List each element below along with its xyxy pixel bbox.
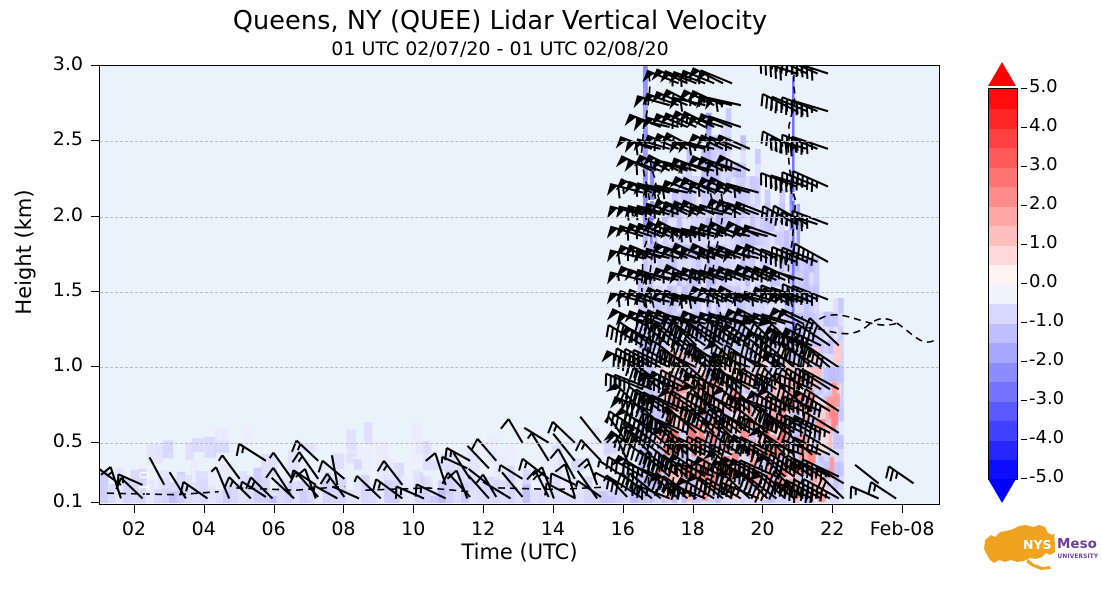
wind-barb xyxy=(289,440,319,469)
wind-barbs-layer xyxy=(100,66,938,503)
logo-mesonet-text: Mesonet xyxy=(1057,536,1098,552)
y-axis-tick xyxy=(91,216,99,217)
colorbar-tick xyxy=(1021,127,1027,128)
colorbar-segment xyxy=(989,323,1017,343)
wind-barb xyxy=(788,100,828,122)
y-axis-tick xyxy=(91,140,99,141)
wind-barb xyxy=(580,417,601,443)
y-axis-tick-label: 0.5 xyxy=(21,430,83,452)
colorbar-tick-label: 3.0 xyxy=(1029,154,1058,175)
x-axis-label: Time (UTC) xyxy=(99,540,940,564)
colorbar-segment xyxy=(989,167,1017,187)
x-axis-tick-label: 16 xyxy=(593,518,653,540)
colorbar-segment xyxy=(989,206,1017,226)
colorbar-tick xyxy=(1021,439,1027,440)
wind-barb xyxy=(553,434,575,461)
x-axis-tick-label: 12 xyxy=(453,518,513,540)
y-axis-tick-label: 1.5 xyxy=(21,279,83,301)
colorbar-tick-label: 2.0 xyxy=(1029,193,1058,214)
x-axis-tick xyxy=(553,505,554,513)
hudson-tail xyxy=(1026,559,1051,570)
colorbar-gradient xyxy=(988,88,1018,480)
x-axis-tick-label: 20 xyxy=(732,518,792,540)
colorbar-segment xyxy=(989,460,1017,480)
wind-barb xyxy=(798,479,839,503)
colorbar-tick xyxy=(1021,283,1027,284)
x-axis-tick-label: 08 xyxy=(313,518,373,540)
colorbar-tick xyxy=(1021,361,1027,362)
x-axis-tick xyxy=(902,505,903,513)
colorbar-segment xyxy=(989,226,1017,246)
x-axis-tick xyxy=(413,505,414,513)
colorbar-tick-label: 0.0 xyxy=(1029,271,1058,292)
colorbar-segment xyxy=(989,265,1017,285)
colorbar-segment xyxy=(989,128,1017,148)
x-axis-tick-label: 18 xyxy=(663,518,723,540)
colorbar-segment xyxy=(989,187,1017,207)
wind-barb xyxy=(412,484,446,503)
chart-subtitle: 01 UTC 02/07/20 - 01 UTC 02/08/20 xyxy=(0,38,1000,60)
y-axis-tick xyxy=(91,65,99,66)
nys-mesonet-logo[interactable]: NYS Mesonet UNIVERSITY AT ALBANY xyxy=(980,520,1098,574)
x-axis-tick xyxy=(343,505,344,513)
logo-nys-text: NYS xyxy=(1023,537,1052,552)
x-axis-tick-label: 04 xyxy=(174,518,234,540)
colorbar-tick-label: -3.0 xyxy=(1029,388,1064,409)
logo-university-text: UNIVERSITY AT ALBANY xyxy=(1058,554,1099,560)
colorbar-tick xyxy=(1021,322,1027,323)
colorbar-tick-label: -1.0 xyxy=(1029,310,1064,331)
y-axis-tick-label: 0.1 xyxy=(21,490,83,512)
colorbar-tick xyxy=(1021,88,1027,89)
gridline-y xyxy=(100,141,939,142)
y-axis-tick xyxy=(91,291,99,292)
colorbar-segment xyxy=(989,362,1017,382)
x-axis-tick xyxy=(693,505,694,513)
colorbar-tick xyxy=(1021,205,1027,206)
wind-barb xyxy=(545,422,575,451)
colorbar-segment xyxy=(989,284,1017,304)
y-axis-label: Height (km) xyxy=(12,42,36,462)
colorbar-segment xyxy=(989,89,1017,109)
wind-barb xyxy=(177,482,208,503)
colorbar-tick xyxy=(1021,166,1027,167)
colorbar-segment xyxy=(989,401,1017,421)
wind-barb xyxy=(440,457,468,474)
x-axis-tick xyxy=(204,505,205,513)
wind-barb xyxy=(318,474,345,503)
colorbar-segment xyxy=(989,109,1017,129)
gridline-y xyxy=(100,443,939,444)
wind-barb xyxy=(150,457,165,485)
wind-barb xyxy=(233,444,266,471)
colorbar-tick xyxy=(1021,244,1027,245)
y-axis-tick-label: 1.0 xyxy=(21,354,83,376)
x-axis-tick xyxy=(762,505,763,513)
x-axis-tick-label: 06 xyxy=(244,518,304,540)
colorbar-tick xyxy=(1021,400,1027,401)
colorbar-segment xyxy=(989,304,1017,324)
x-axis-tick xyxy=(274,505,275,513)
x-axis-tick-label: 14 xyxy=(523,518,583,540)
wind-barb xyxy=(315,461,344,488)
colorbar xyxy=(985,62,1021,504)
x-axis-tick-label: Feb-08 xyxy=(854,518,950,540)
wind-barb xyxy=(855,465,879,484)
colorbar-tick xyxy=(1021,478,1027,479)
wind-barb xyxy=(526,433,548,464)
colorbar-segment xyxy=(989,343,1017,363)
wind-barb xyxy=(705,98,741,118)
colorbar-extend-max xyxy=(988,62,1016,86)
x-axis-tick xyxy=(134,505,135,513)
colorbar-segment xyxy=(989,440,1017,460)
y-axis-tick-label: 2.0 xyxy=(21,204,83,226)
wind-barb xyxy=(723,183,759,204)
y-axis-tick xyxy=(91,502,99,503)
y-axis-tick xyxy=(91,366,99,367)
wind-barb xyxy=(882,466,913,493)
gridline-y xyxy=(100,292,939,293)
colorbar-tick-label: 4.0 xyxy=(1029,115,1058,136)
y-axis-tick-label: 3.0 xyxy=(21,53,83,75)
colorbar-tick-label: -5.0 xyxy=(1029,466,1064,487)
colorbar-tick-label: 5.0 xyxy=(1029,76,1058,97)
plot-area: -1.0-2.0-1.0-1.0-1.00.0 xyxy=(99,65,940,505)
y-axis-tick-label: 2.5 xyxy=(21,128,83,150)
colorbar-segment xyxy=(989,382,1017,402)
colorbar-segment xyxy=(989,245,1017,265)
colorbar-tick-label: 1.0 xyxy=(1029,232,1058,253)
colorbar-segment xyxy=(989,148,1017,168)
colorbar-tick-label: -2.0 xyxy=(1029,349,1064,370)
x-axis-tick-label: 02 xyxy=(104,518,164,540)
y-axis-tick xyxy=(91,442,99,443)
x-axis-tick xyxy=(832,505,833,513)
colorbar-tick-label: -4.0 xyxy=(1029,427,1064,448)
colorbar-segment xyxy=(989,421,1017,441)
gridline-y xyxy=(100,367,939,368)
wind-barb xyxy=(499,419,523,449)
x-axis-tick xyxy=(483,505,484,513)
chart-title: Queens, NY (QUEE) Lidar Vertical Velocit… xyxy=(0,6,1000,36)
wind-barb xyxy=(789,171,828,197)
wind-barb xyxy=(865,482,896,503)
wind-barb xyxy=(392,486,424,503)
wind-barb xyxy=(243,477,273,503)
gridline-y xyxy=(100,217,939,218)
x-axis-tick-label: 10 xyxy=(383,518,443,540)
x-axis-tick xyxy=(623,505,624,513)
logo-divider xyxy=(1053,534,1055,552)
colorbar-extend-min xyxy=(988,479,1016,503)
